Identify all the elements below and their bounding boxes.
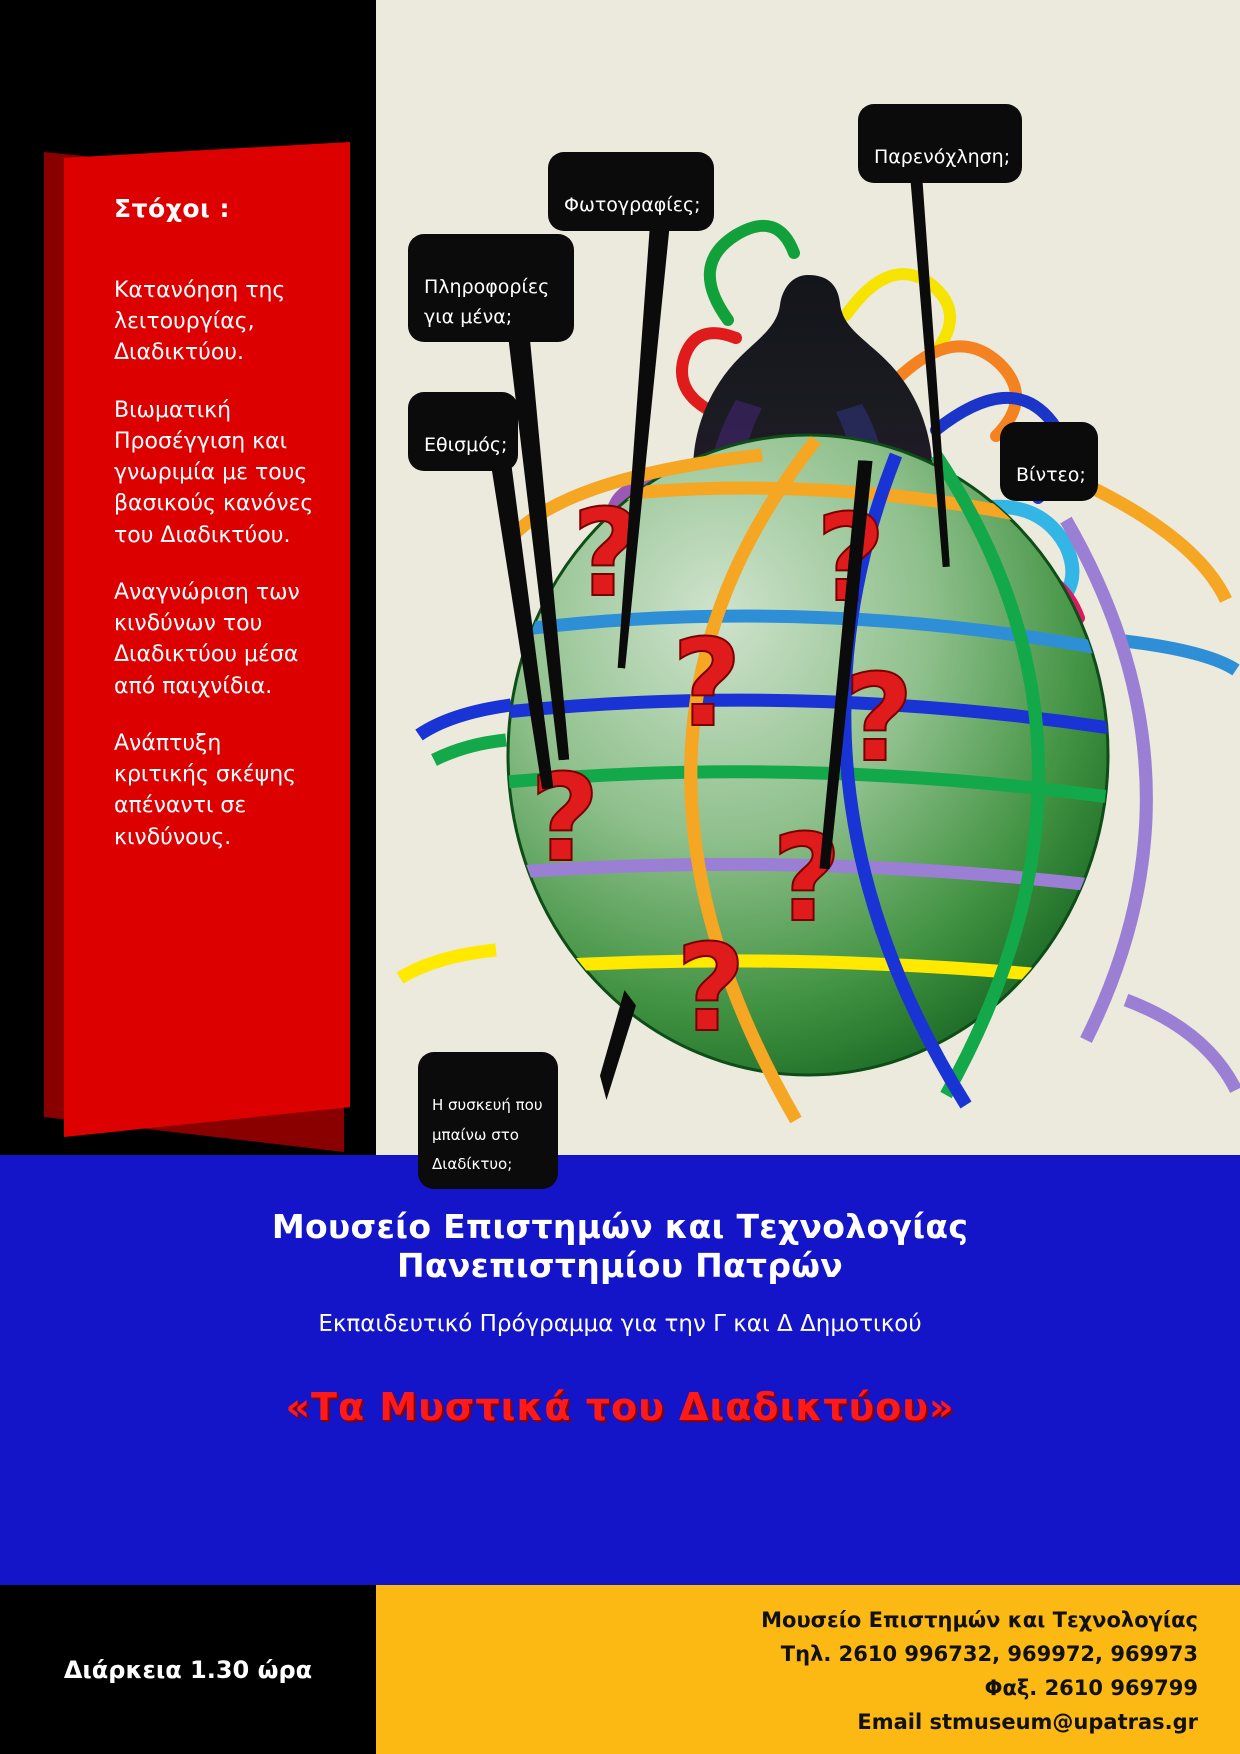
- bubble-video[interactable]: Βίντεο;: [1000, 422, 1098, 501]
- contact-block: Μουσείο Επιστημών και Τεχνολογίας Τηλ. 2…: [376, 1585, 1240, 1754]
- globe-svg: ? ? ? ? ? ? ?: [376, 0, 1240, 1155]
- question-mark: ?: [676, 920, 746, 1059]
- bubble-text: Παρενόχληση;: [874, 146, 1010, 168]
- program-line: Εκπαιδευτικό Πρόγραμμα για την Γ και Δ Δ…: [0, 1311, 1240, 1337]
- bubble-text: Εθισμός;: [424, 434, 507, 456]
- bubble-device[interactable]: Η συσκευή που μπαίνω στο Διαδίκτυο;: [418, 1052, 558, 1189]
- bubble-photos[interactable]: Φωτογραφίες;: [548, 152, 714, 231]
- contact-name: Μουσείο Επιστημών και Τεχνολογίας: [376, 1603, 1198, 1637]
- objectives-title: Στόχοι :: [114, 194, 320, 223]
- contact-email: Email stmuseum@upatras.gr: [376, 1705, 1198, 1739]
- objectives-card: Στόχοι : Κατανόηση της λειτουργίας, Διαδ…: [64, 142, 350, 1137]
- question-mark: ?: [844, 650, 914, 789]
- organisation-line-2: Πανεπιστημίου Πατρών: [0, 1246, 1240, 1285]
- bubble-text: Βίντεο;: [1016, 464, 1086, 486]
- objective-item: Ανάπτυξη κριτικής σκέψης απέναντι σε κιν…: [114, 728, 320, 853]
- footer-blue-band: Μουσείο Επιστημών και Τεχνολογίας Πανεπι…: [0, 1155, 1240, 1585]
- bubble-text: Φωτογραφίες;: [564, 194, 701, 216]
- contact-phone: Τηλ. 2610 996732, 969972, 969973: [376, 1637, 1198, 1671]
- contact-fax: Φαξ. 2610 969799: [376, 1671, 1198, 1705]
- objective-item: Κατανόηση της λειτουργίας, Διαδικτύου.: [114, 275, 320, 369]
- bubble-text: Η συσκευή που μπαίνω στο Διαδίκτυο;: [432, 1096, 543, 1173]
- duration-text: Διάρκεια 1.30 ώρα: [64, 1656, 312, 1684]
- bubble-harassment[interactable]: Παρενόχληση;: [858, 104, 1022, 183]
- bubble-addiction[interactable]: Εθισμός;: [408, 392, 518, 471]
- duration-block: Διάρκεια 1.30 ώρα: [0, 1585, 376, 1754]
- bubble-text: Πληροφορίες για μένα;: [424, 276, 549, 327]
- globe-illustration: ? ? ? ? ? ? ?: [376, 0, 1240, 1155]
- bubble-personal-info[interactable]: Πληροφορίες για μένα;: [408, 234, 574, 342]
- objective-item: Αναγνώριση των κινδύνων του Διαδικτύου μ…: [114, 577, 320, 702]
- question-mark: ?: [672, 615, 742, 754]
- program-title: «Τα Μυστικά του Διαδικτύου»: [0, 1385, 1240, 1429]
- organisation-line-1: Μουσείο Επιστημών και Τεχνολογίας: [0, 1155, 1240, 1246]
- objective-item: Βιωματική Προσέγγιση και γνωριμία με του…: [114, 395, 320, 551]
- poster-root: ? ? ? ? ? ? ? Παρενόχληση; Φωτογραφίες; …: [0, 0, 1240, 1754]
